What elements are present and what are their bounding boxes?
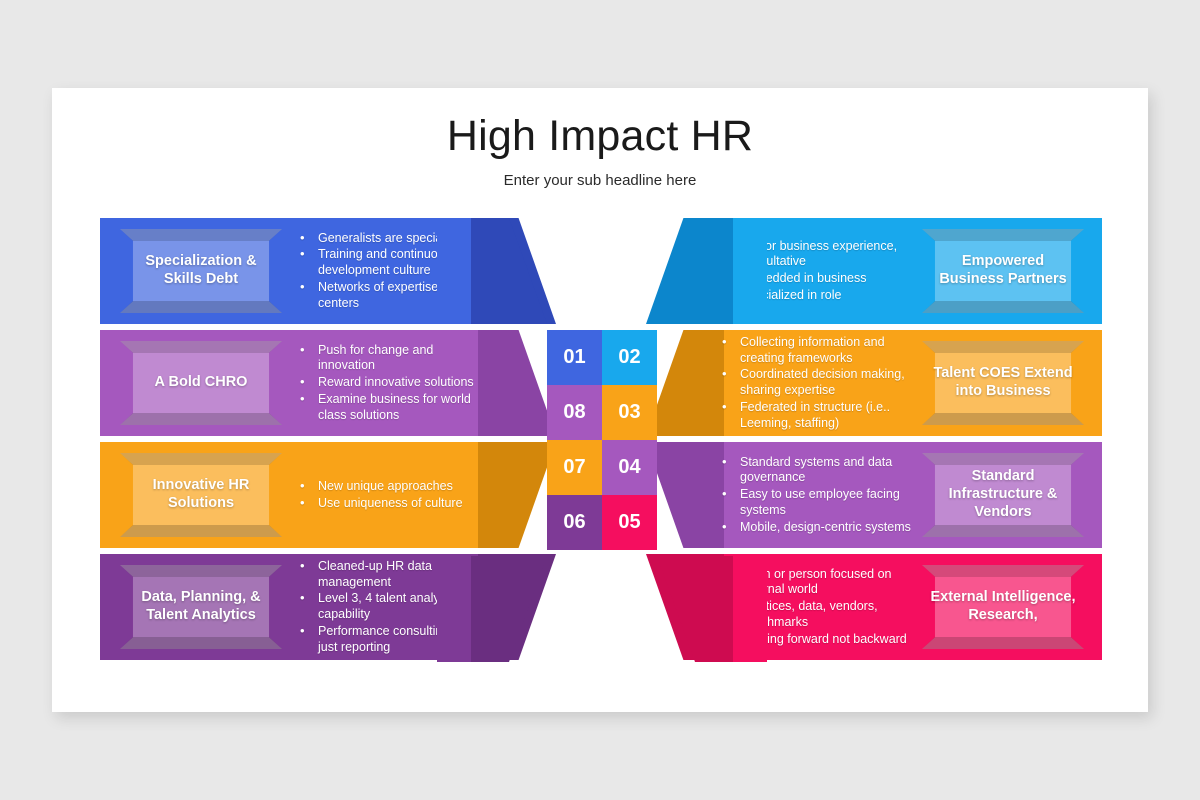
funnel-wing-bottom-right [657,556,767,662]
plate-bevel-bottom [922,637,1084,649]
panel-label-plate: Standard Infrastructure & Vendors [922,453,1084,537]
plate-bevel-top [922,453,1084,465]
bullet-item: Reward innovative solutions [296,375,492,391]
panel-label-text: Specialization & Skills Debt [126,253,276,288]
plate-bevel-bottom [922,413,1084,425]
plate-bevel-top [120,229,282,241]
center-number-02[interactable]: 02 [602,330,657,385]
panel-bullet-list: Standard systems and data governanceEasy… [718,442,932,548]
infographic-diagram: Specialization & Skills DebtGeneralists … [100,218,1102,662]
page-title: High Impact HR [52,112,1148,161]
bullet-item: Examine business for world class solutio… [296,392,492,424]
bullet-item: Push for change and innovation [296,343,492,375]
bullet-item: Use uniqueness of culture [296,496,492,512]
plate-bevel-top [120,453,282,465]
panel-right-04[interactable]: Standard Infrastructure & VendorsStandar… [702,442,1102,548]
panel-bullet-list: Push for change and innovationReward inn… [296,330,492,436]
center-number-08[interactable]: 08 [547,385,602,440]
bullet-item: Mobile, design-centric systems [718,520,932,536]
panel-label-text: Talent COES Extend into Business [928,365,1078,400]
panel-left-08[interactable]: A Bold CHROPush for change and innovatio… [100,330,500,436]
diagram-row: Data, Planning, & Talent AnalyticsCleane… [100,554,1102,660]
plate-bevel-bottom [120,413,282,425]
plate-bevel-bottom [922,301,1084,313]
funnel-wing-top-right [657,218,767,324]
panel-bullet-list: Collecting information and creating fram… [718,330,932,436]
center-number-07[interactable]: 07 [547,440,602,495]
center-number-04[interactable]: 04 [602,440,657,495]
plate-bevel-top [120,341,282,353]
bullet-item: Collecting information and creating fram… [718,335,932,367]
panel-label-plate: External Intelligence, Research, [922,565,1084,649]
panel-label-text: A Bold CHRO [155,374,248,392]
panel-left-07[interactable]: Innovative HR SolutionsNew unique approa… [100,442,500,548]
plate-bevel-bottom [120,301,282,313]
page-subtitle: Enter your sub headline here [52,172,1148,189]
plate-bevel-top [922,565,1084,577]
center-number-06[interactable]: 06 [547,495,602,550]
panel-label-plate: Specialization & Skills Debt [120,229,282,313]
panel-fold-arm [646,330,724,436]
panel-label-plate: Empowered Business Partners [922,229,1084,313]
bullet-item: New unique approaches [296,479,492,495]
bullet-item: Standard systems and data governance [718,455,932,487]
funnel-wing-bottom-left [437,556,547,662]
plate-bevel-bottom [120,525,282,537]
panel-label-text: Standard Infrastructure & Vendors [928,468,1078,521]
panel-label-text: Empowered Business Partners [928,253,1078,288]
panel-label-text: Data, Planning, & Talent Analytics [126,589,276,624]
plate-bevel-top [120,565,282,577]
panel-bullet-list: New unique approachesUse uniqueness of c… [296,442,492,548]
plate-bevel-top [922,229,1084,241]
center-number-01[interactable]: 01 [547,330,602,385]
panel-label-text: External Intelligence, Research, [928,589,1078,624]
plate-bevel-top [922,341,1084,353]
panel-label-text: Innovative HR Solutions [126,477,276,512]
center-number-05[interactable]: 05 [602,495,657,550]
bullet-item: Easy to use employee facing systems [718,487,932,519]
diagram-row: Specialization & Skills DebtGeneralists … [100,218,1102,324]
panel-label-plate: Innovative HR Solutions [120,453,282,537]
funnel-wing-top-left [437,218,547,324]
panel-label-plate: Data, Planning, & Talent Analytics [120,565,282,649]
panel-fold-arm [646,442,724,548]
bullet-item: Federated in structure (i.e.. Leeming, s… [718,400,932,432]
bullet-item: Coordinated decision making, sharing exp… [718,367,932,399]
slide-card: High Impact HR Enter your sub headline h… [52,88,1148,712]
plate-bevel-bottom [120,637,282,649]
panel-label-plate: A Bold CHRO [120,341,282,425]
center-number-grid: 01 02 08 03 07 04 06 05 [547,330,657,550]
panel-label-plate: Talent COES Extend into Business [922,341,1084,425]
panel-right-03[interactable]: Talent COES Extend into BusinessCollecti… [702,330,1102,436]
plate-bevel-bottom [922,525,1084,537]
center-number-03[interactable]: 03 [602,385,657,440]
